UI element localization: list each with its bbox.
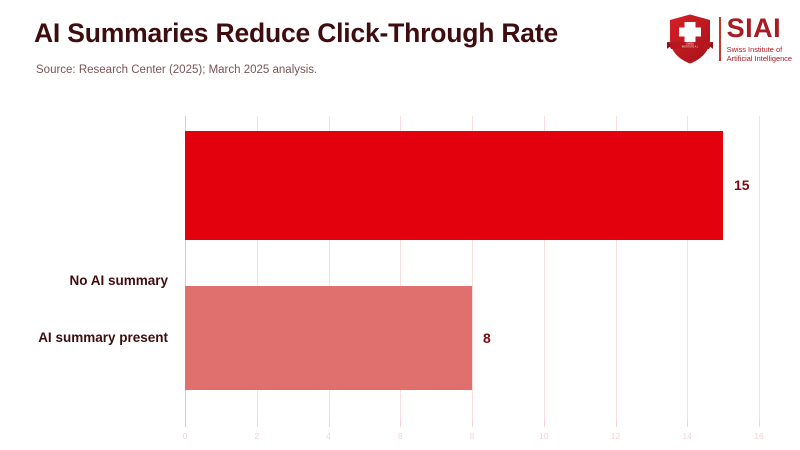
svg-text:INSTITUTE A.I.: INSTITUTE A.I. xyxy=(681,46,698,49)
xtick-label-6: 6 xyxy=(398,431,403,441)
siai-logo: SWISS INSTITUTE A.I. SIAI Swiss Institut… xyxy=(667,11,792,67)
logo-acronym: SIAI xyxy=(727,15,792,42)
bar-chart: No AI summary AI summary present 15 8 0 xyxy=(0,95,800,450)
xtick-label-14: 14 xyxy=(683,431,692,441)
xtick-mark-16 xyxy=(759,420,760,427)
plot-area: 15 8 0 2 4 6 8 10 12 14 16 xyxy=(185,116,759,420)
xtick-mark-8 xyxy=(472,420,473,427)
xtick-label-10: 10 xyxy=(539,431,548,441)
bar-no-ai-summary[interactable] xyxy=(185,131,723,240)
category-label-0: No AI summary xyxy=(18,273,168,289)
logo-wordmark: SIAI Swiss Institute of Artificial Intel… xyxy=(727,15,792,64)
xtick-label-2: 2 xyxy=(254,431,259,441)
xtick-label-16: 16 xyxy=(754,431,763,441)
xtick-label-0: 0 xyxy=(183,431,188,441)
bar-value-label-0: 15 xyxy=(734,177,750,193)
logo-tagline: Swiss Institute of Artificial Intelligen… xyxy=(727,45,792,64)
logo-tagline-line2: Artificial Intelligence xyxy=(727,54,792,63)
xtick-label-8: 8 xyxy=(470,431,475,441)
chart-header: AI Summaries Reduce Click-Through Rate S… xyxy=(0,0,800,95)
chart-subtitle-source: Source: Research Center (2025); March 20… xyxy=(36,64,317,76)
xtick-mark-4 xyxy=(329,420,330,427)
logo-divider xyxy=(719,17,721,61)
xtick-mark-10 xyxy=(544,420,545,427)
page-title: AI Summaries Reduce Click-Through Rate xyxy=(34,18,558,49)
logo-tagline-line1: Swiss Institute of xyxy=(727,45,792,54)
bar-ai-summary-present[interactable] xyxy=(185,286,472,390)
xtick-mark-2 xyxy=(257,420,258,427)
swiss-shield-cross-icon: SWISS INSTITUTE A.I. xyxy=(667,13,713,65)
xtick-mark-6 xyxy=(400,420,401,427)
xtick-label-12: 12 xyxy=(611,431,620,441)
xtick-mark-0 xyxy=(185,420,186,427)
xtick-mark-12 xyxy=(616,420,617,427)
bar-value-label-1: 8 xyxy=(483,330,491,346)
xtick-label-4: 4 xyxy=(326,431,331,441)
xtick-mark-14 xyxy=(687,420,688,427)
gridline-16 xyxy=(759,116,760,420)
category-label-1: AI summary present xyxy=(18,330,168,346)
